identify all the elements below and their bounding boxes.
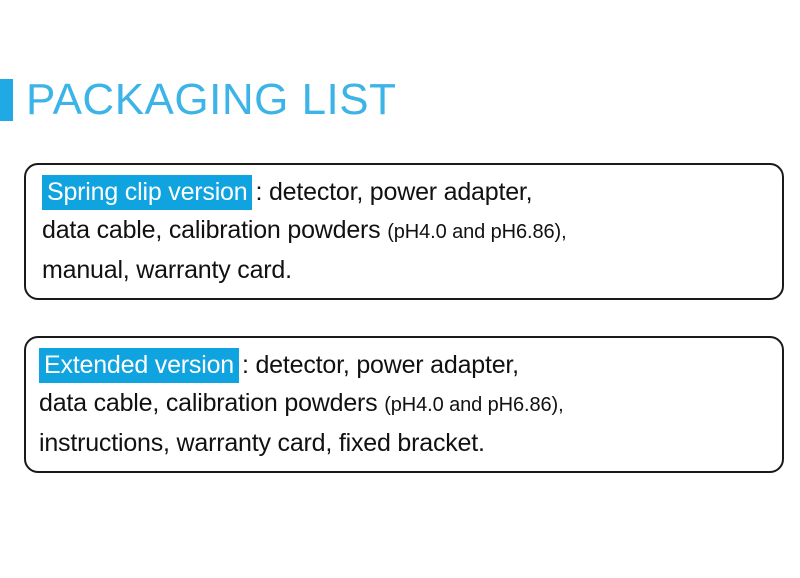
packaging-line: data cable, calibration powders (pH4.0 a… <box>39 384 768 424</box>
packaging-line-note: (pH4.0 and pH6.86), <box>384 394 563 416</box>
packaging-line-note: (pH4.0 and pH6.86), <box>387 221 566 243</box>
packaging-box-spring-clip: Spring clip version: detector, power ada… <box>24 163 784 300</box>
packaging-box-extended: Extended version: detector, power adapte… <box>24 336 784 473</box>
blue-bar-marker-icon <box>0 79 13 121</box>
packaging-line-text: : detector, power adapter, <box>239 346 519 384</box>
packaging-box-extended-body: Extended version: detector, power adapte… <box>39 346 768 462</box>
page-title-row: PACKAGING LIST <box>0 72 397 128</box>
version-badge-spring-clip: Spring clip version <box>42 175 252 210</box>
packaging-line-text: : detector, power adapter, <box>252 173 532 211</box>
packaging-line: data cable, calibration powders (pH4.0 a… <box>42 211 768 251</box>
packaging-line-text: data cable, calibration powders <box>42 216 387 244</box>
version-badge-extended: Extended version <box>39 348 239 383</box>
packaging-line: manual, warranty card. <box>42 251 768 289</box>
packaging-line-text: instructions, warranty card, fixed brack… <box>39 429 485 457</box>
packaging-line: instructions, warranty card, fixed brack… <box>39 424 768 462</box>
page-title: PACKAGING LIST <box>26 78 397 122</box>
packaging-line: Extended version: detector, power adapte… <box>39 346 768 384</box>
packaging-line-text: data cable, calibration powders <box>39 389 384 417</box>
packaging-box-spring-clip-body: Spring clip version: detector, power ada… <box>42 173 768 289</box>
packaging-line: Spring clip version: detector, power ada… <box>42 173 768 211</box>
packaging-line-text: manual, warranty card. <box>42 256 292 284</box>
